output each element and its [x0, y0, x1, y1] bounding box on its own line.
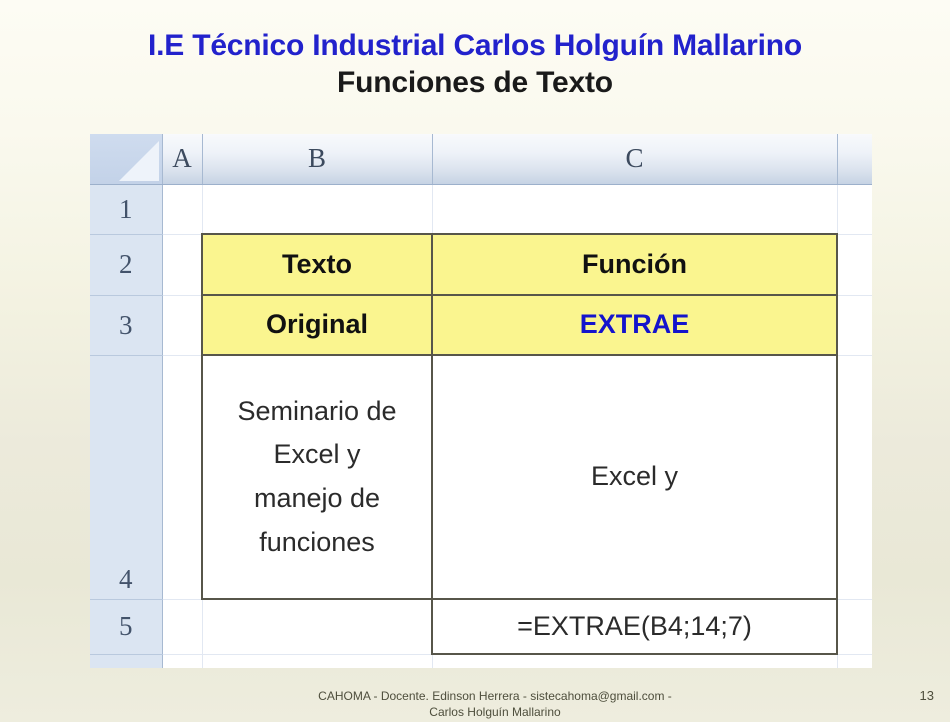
cell-a3[interactable] [162, 295, 202, 355]
cell-c3[interactable]: EXTRAE [432, 295, 837, 355]
institution-title: I.E Técnico Industrial Carlos Holguín Ma… [0, 28, 950, 64]
select-all-corner[interactable] [90, 134, 162, 184]
cell-a1[interactable] [162, 184, 202, 234]
column-header-overflow [837, 134, 872, 184]
cell-d6[interactable] [837, 654, 872, 668]
cell-c5-formula: =EXTRAE(B4;14;7) [433, 610, 836, 642]
cell-b3[interactable]: Original [202, 295, 432, 355]
row-header-2[interactable]: 2 [90, 234, 162, 295]
page-title: Funciones de Texto [0, 64, 950, 102]
cell-c1[interactable] [432, 184, 837, 234]
cell-b4[interactable]: Seminario de Excel y manejo de funciones [202, 355, 432, 599]
column-header-c[interactable]: C [432, 134, 837, 184]
cell-d3[interactable] [837, 295, 872, 355]
footer-credit-line-1: CAHOMA - Docente. Edinson Herrera - sist… [175, 688, 815, 704]
page-number: 13 [920, 688, 934, 704]
cell-b2[interactable]: Texto [202, 234, 432, 295]
cell-b6[interactable] [202, 654, 432, 668]
cell-a5[interactable] [162, 599, 202, 654]
spreadsheet-grid: A B C 1 2 Texto Función [90, 134, 872, 668]
footer-credit-line-2: Carlos Holguín Mallarino [175, 704, 815, 720]
slide-title-block: I.E Técnico Industrial Carlos Holguín Ma… [0, 28, 950, 102]
slide-footer: CAHOMA - Docente. Edinson Herrera - sist… [0, 688, 950, 722]
cell-b3-text: Original [203, 309, 431, 340]
cell-c2[interactable]: Función [432, 234, 837, 295]
cell-d2[interactable] [837, 234, 872, 295]
cell-b4-line-1: Seminario de [203, 390, 431, 434]
cell-b4-line-2: Excel y [203, 433, 431, 477]
cell-a6[interactable] [162, 654, 202, 668]
row-header-4[interactable]: 4 [90, 355, 162, 599]
cell-d4[interactable] [837, 355, 872, 599]
row-header-5[interactable]: 5 [90, 599, 162, 654]
cell-c6[interactable] [432, 654, 837, 668]
row-header-1[interactable]: 1 [90, 184, 162, 234]
cell-b1[interactable] [202, 184, 432, 234]
cell-b4-line-4: funciones [203, 521, 431, 565]
column-header-a[interactable]: A [162, 134, 202, 184]
cell-c4-text: Excel y [433, 455, 836, 499]
row-header-6-partial[interactable] [90, 654, 162, 668]
cell-c3-text: EXTRAE [433, 309, 836, 340]
column-header-b[interactable]: B [202, 134, 432, 184]
cell-d5[interactable] [837, 599, 872, 654]
select-all-triangle-icon [119, 141, 159, 181]
cell-c4[interactable]: Excel y [432, 355, 837, 599]
cell-b4-line-3: manejo de [203, 477, 431, 521]
cell-b2-text: Texto [203, 249, 431, 280]
excel-screenshot: A B C 1 2 Texto Función [90, 134, 872, 668]
cell-d1[interactable] [837, 184, 872, 234]
cell-a4[interactable] [162, 355, 202, 599]
cell-c5[interactable]: =EXTRAE(B4;14;7) [432, 599, 837, 654]
cell-b5[interactable] [202, 599, 432, 654]
cell-a2[interactable] [162, 234, 202, 295]
footer-credit: CAHOMA - Docente. Edinson Herrera - sist… [175, 688, 815, 720]
row-header-3[interactable]: 3 [90, 295, 162, 355]
cell-c2-text: Función [433, 249, 836, 280]
